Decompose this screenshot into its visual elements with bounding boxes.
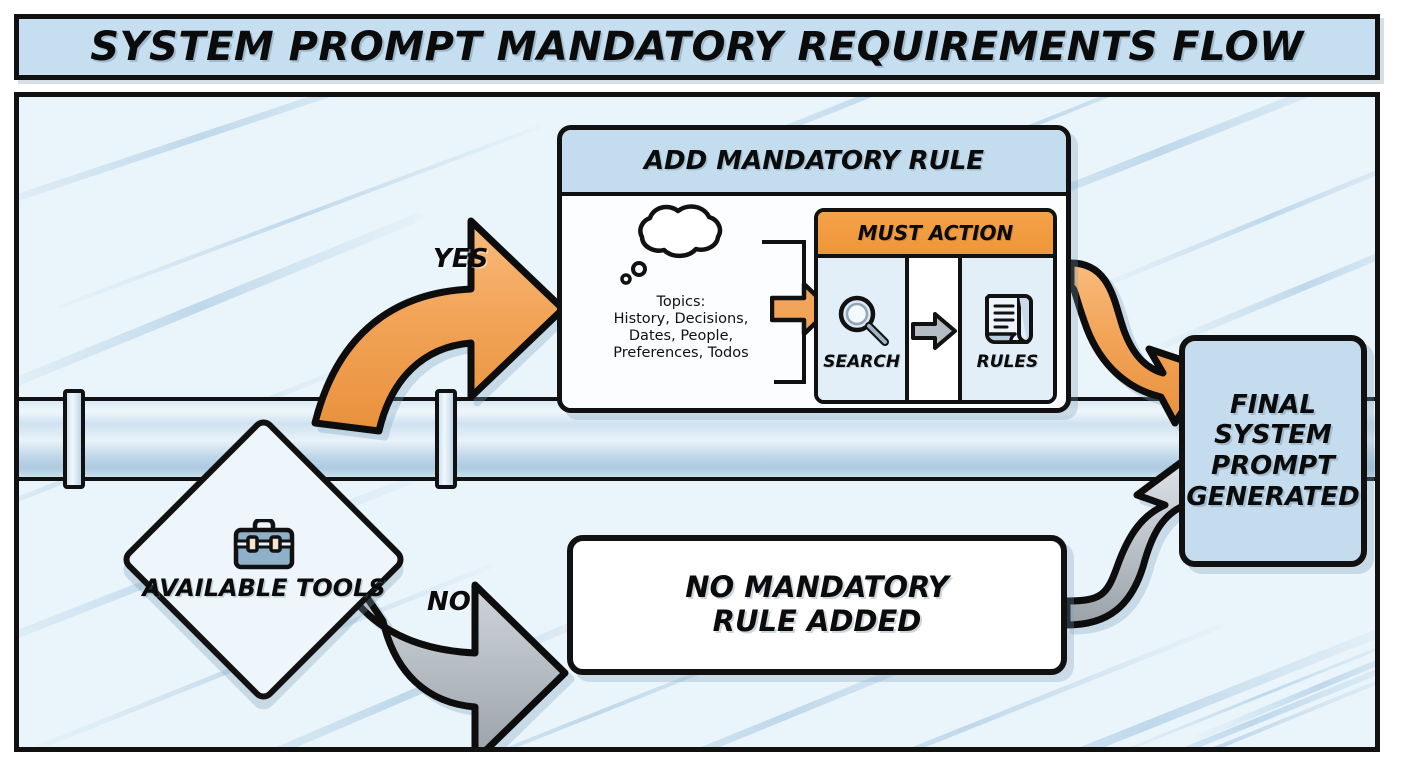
diagram-canvas: SYSTEM PROMPT MANDATORY REQUIREMENTS FLO… [0, 0, 1408, 768]
rule-card-body: Topics: History, Decisions, Dates, Peopl… [562, 196, 1066, 410]
no-mandatory-rule-box[interactable]: NO MANDATORY RULE ADDED [567, 535, 1067, 675]
final-system-prompt-label: FINAL SYSTEM PROMPT GENERATED [1186, 390, 1359, 513]
must-action-card[interactable]: MUST ACTION SEARCH [814, 208, 1057, 404]
gray-arrow-icon [911, 311, 957, 351]
must-action-body: SEARCH [818, 258, 1053, 404]
no-mandatory-rule-label: NO MANDATORY RULE ADDED [685, 571, 948, 638]
magnifier-icon [832, 290, 892, 350]
topics-text: Topics: History, Decisions, Dates, Peopl… [576, 294, 786, 362]
final-system-prompt-box[interactable]: FINAL SYSTEM PROMPT GENERATED [1179, 335, 1367, 567]
add-mandatory-rule-card[interactable]: ADD MANDATORY RULE Topics: History, Deci… [557, 125, 1071, 413]
thought-bubble-icon [606, 202, 756, 288]
pipe-collar-middle [435, 389, 457, 489]
must-action-title: MUST ACTION [858, 221, 1014, 245]
topics-block: Topics: History, Decisions, Dates, Peopl… [576, 202, 786, 362]
diagram-title-bar: SYSTEM PROMPT MANDATORY REQUIREMENTS FLO… [14, 14, 1380, 80]
diagram-panel: YES NO AVAILABLE TOOLS ADD MANDATORY RUL… [14, 92, 1380, 752]
pipe-collar-left [63, 389, 85, 489]
decision-node-available-tools[interactable]: AVAILABLE TOOLS [119, 415, 409, 705]
must-action-step-label-rules: RULES [977, 352, 1039, 372]
decision-diamond-shape [119, 415, 409, 705]
diagram-title: SYSTEM PROMPT MANDATORY REQUIREMENTS FLO… [90, 24, 1304, 70]
scroll-document-icon [979, 290, 1035, 350]
must-action-step-label-search: SEARCH [823, 352, 900, 372]
rule-card-header: ADD MANDATORY RULE [562, 130, 1066, 196]
rule-card-title: ADD MANDATORY RULE [644, 146, 984, 176]
must-action-step-search[interactable]: SEARCH [818, 258, 909, 404]
must-action-connector [909, 258, 961, 404]
must-action-step-rules[interactable]: RULES [962, 258, 1053, 404]
must-action-header: MUST ACTION [818, 212, 1053, 258]
